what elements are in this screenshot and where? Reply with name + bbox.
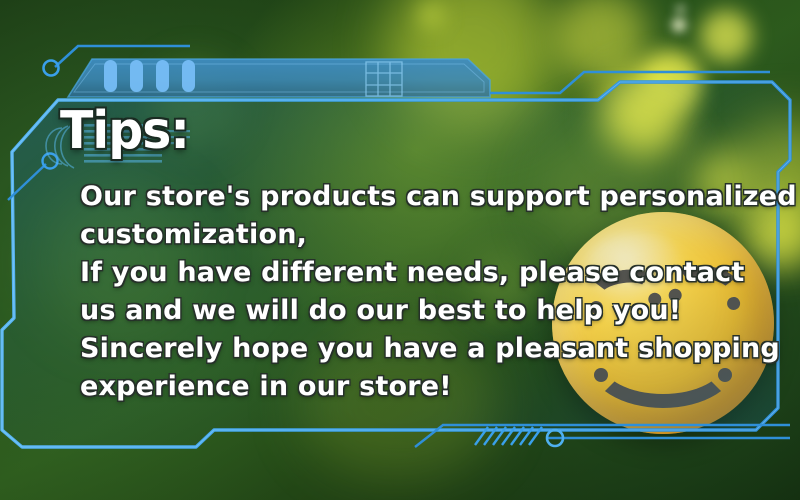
- tips-line: Sincerely hope you have a pleasant shopp…: [80, 330, 740, 368]
- tips-line: If you have different needs, please cont…: [80, 254, 740, 292]
- tips-line: customization,: [80, 216, 740, 254]
- banner-canvas: Tips: Our store's products can support p…: [0, 0, 800, 500]
- tips-body-text: Our store's products can support persona…: [80, 178, 740, 406]
- tips-line: experience in our store!: [80, 368, 740, 406]
- header-bar: [68, 59, 490, 97]
- circuit-node-icon: [44, 61, 59, 76]
- page-title: Tips:: [60, 105, 189, 157]
- tips-line: Our store's products can support persona…: [80, 178, 740, 216]
- tips-line: us and we will do our best to help you!: [80, 292, 740, 330]
